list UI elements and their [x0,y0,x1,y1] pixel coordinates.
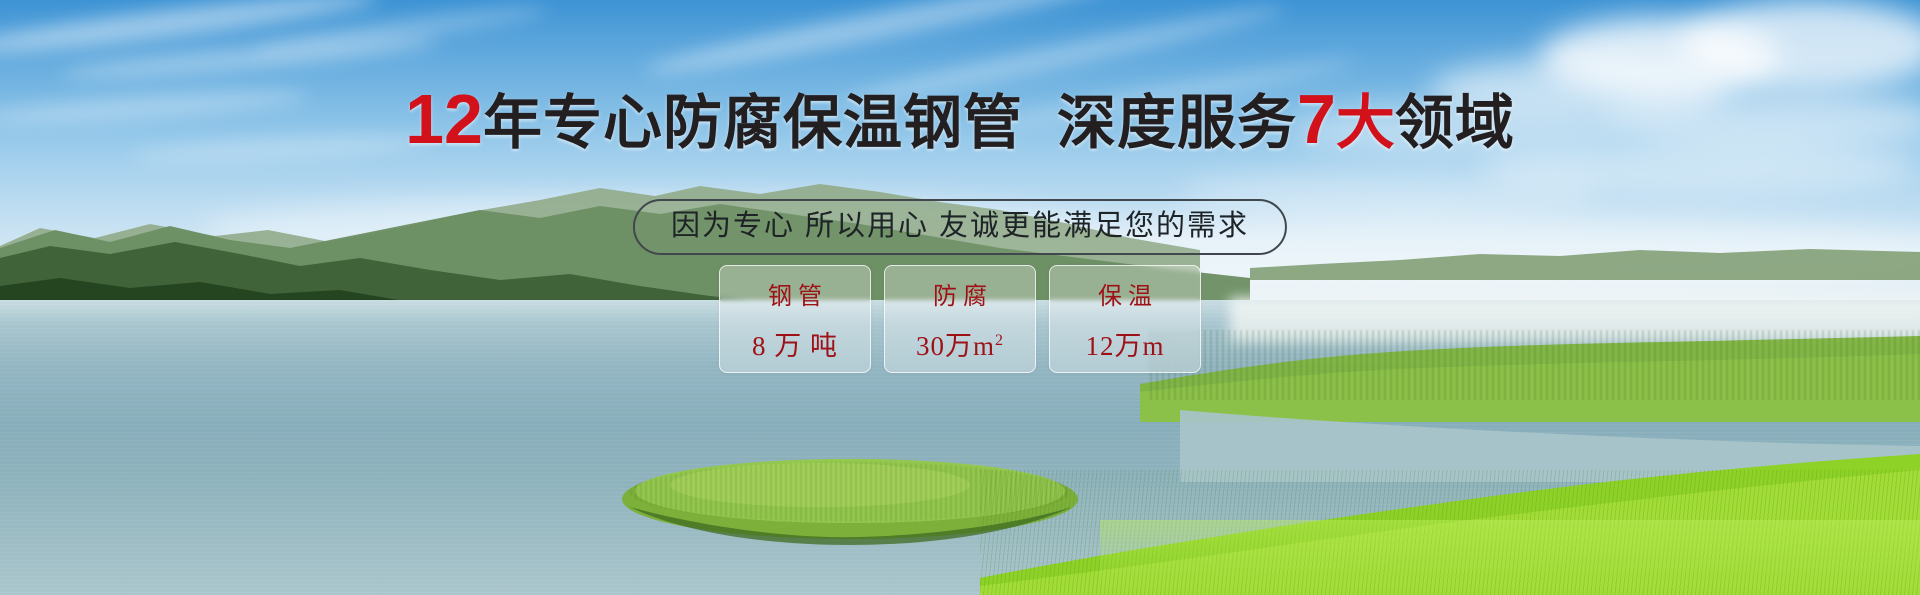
stat-card-label: 保温 [1092,276,1158,311]
headline-main-text: 年专心防腐保温钢管 [483,90,1023,156]
stat-card-value: 8 万 吨 [752,324,838,363]
subtitle-text: 因为专心 所以用心 友诚更能满足您的需求 [671,210,1249,242]
stat-card-value: 30万m2 [916,324,1004,363]
headline-fields-number: 7 [1297,80,1336,158]
stat-value-superscript: 2 [995,332,1004,349]
headline-years-number: 12 [405,80,483,158]
promo-banner: 12年专心防腐保温钢管年专心防腐保温钢管深度服务7大领域 因为专心 所以用心 友… [0,0,1920,595]
stats-card-group: 钢管 8 万 吨 防腐 30万m2 保温 12万m [719,265,1201,373]
stat-value-main: 30万m [916,331,995,361]
stat-card-label: 防腐 [927,276,993,311]
marsh-texture [1150,330,1920,400]
stat-value-main: 8 万 吨 [752,331,838,361]
stat-card-value: 12万m [1085,324,1164,363]
stat-card-insulation: 保温 12万m [1049,265,1201,373]
headline-fields-text: 领域 [1395,90,1515,156]
page-title: 12年专心防腐保温钢管年专心防腐保温钢管深度服务7大领域 [0,88,1920,154]
subtitle-pill: 因为专心 所以用心 友诚更能满足您的需求 [633,199,1287,255]
headline-service-text: 深度服务 [1057,90,1297,156]
stat-value-main: 12万m [1085,331,1164,361]
stat-card-steel-pipe: 钢管 8 万 吨 [719,265,871,373]
stat-card-anticorrosion: 防腐 30万m2 [884,265,1036,373]
foreground-grass-highlight [1100,520,1920,595]
stat-card-label: 钢管 [762,276,828,311]
headline-fields-measure: 大 [1336,90,1395,156]
